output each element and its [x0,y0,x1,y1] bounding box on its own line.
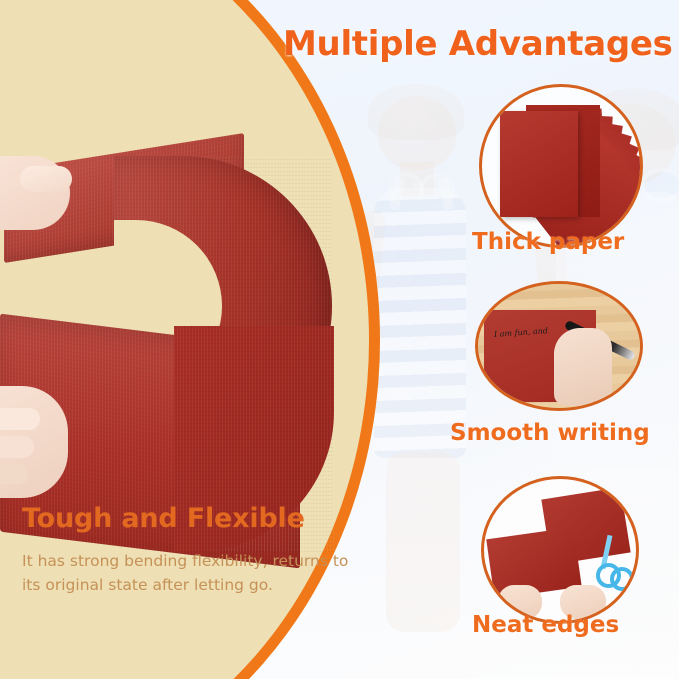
feature-image-neat-edges [481,476,639,624]
hero-hand-lower-finger-3 [0,464,28,484]
feature-image-smooth-writing: I am fun, and [475,281,643,411]
feature-image-thick-paper [479,84,643,248]
left-panel-body: It has strong bending flexibility, retur… [22,549,352,597]
hero-hand-upper-fingers [20,166,72,192]
left-panel-heading: Tough and Flexible [22,503,352,534]
feature-caption-neat-edges: Neat edges [472,612,619,638]
scissors-handle-2 [610,567,634,591]
feature-caption-thick-paper: Thick paper [472,229,624,255]
left-panel-body-line-1: It has strong bending flexibility, retur… [22,549,352,573]
infographic-canvas: Multiple Advantages Tough and Flexible I… [0,0,679,679]
left-panel-body-line-2: its original state after letting go. [22,573,352,597]
hero-hand-lower-finger-2 [0,436,34,458]
writing-hand [554,328,612,406]
paper-sheet-front [500,111,578,217]
page-title: Multiple Advantages [283,24,675,64]
hero-hand-lower-finger-1 [0,408,40,430]
feature-caption-smooth-writing: Smooth writing [450,420,650,446]
